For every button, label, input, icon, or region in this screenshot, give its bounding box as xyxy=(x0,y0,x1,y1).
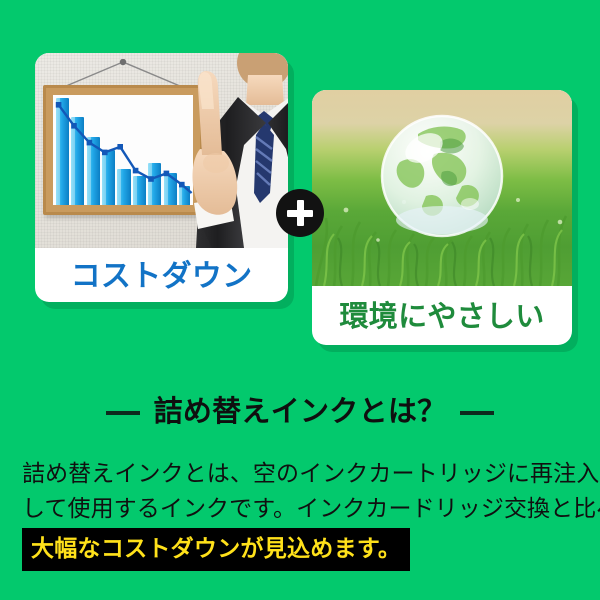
card-cost-down-label: コストダウン xyxy=(35,248,288,302)
headline-rule-left xyxy=(106,411,140,415)
body-copy: 詰め替えインクとは、空のインクカートリッジに再注入 して使用するインクです。イン… xyxy=(22,456,584,571)
headline-rule-right xyxy=(460,411,494,415)
card-eco-friendly-label: 環境にやさしい xyxy=(312,286,572,345)
eco-friendly-image xyxy=(312,90,572,286)
body-line-2: して使用するインクです。インクカードリッジ交換と比べ xyxy=(22,491,584,526)
card-eco-friendly[interactable]: 環境にやさしい xyxy=(312,90,572,345)
body-highlight: 大幅なコストダウンが見込めます。 xyxy=(22,528,410,571)
body-line-1: 詰め替えインクとは、空のインクカートリッジに再注入 xyxy=(22,456,584,491)
plus-icon-vertical xyxy=(297,200,304,226)
page-title: 詰め替えインクとは？ xyxy=(0,398,600,427)
poster-canvas: コストダウン xyxy=(0,0,600,600)
plus-badge xyxy=(276,189,324,237)
businessman-pointing-icon xyxy=(160,53,288,248)
cost-down-image xyxy=(35,53,288,248)
glass-globe-icon xyxy=(378,112,506,240)
card-cost-down[interactable]: コストダウン xyxy=(35,53,288,302)
headline-text: 詰め替えインクとは？ xyxy=(154,398,447,427)
